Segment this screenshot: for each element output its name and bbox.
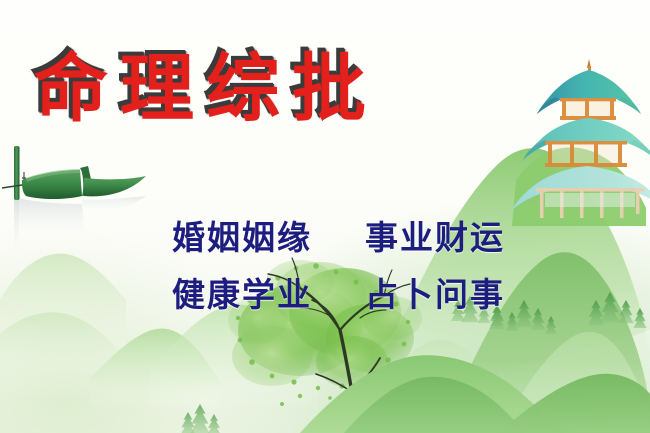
subtitle-marriage: 婚姻姻缘 xyxy=(172,218,312,257)
mast-reflection xyxy=(14,198,19,258)
boat xyxy=(2,146,146,258)
subtitle-career: 事业财运 xyxy=(365,218,505,257)
subtitle-divination: 占卜问事 xyxy=(365,275,505,314)
subtitle-line-2: 健康学业 占卜问事 xyxy=(172,268,505,316)
page-title: 命理综批 xyxy=(34,52,378,126)
poster-canvas: 命理综批 婚姻姻缘 事业财运 健康学业 占卜问事 xyxy=(0,0,650,433)
subtitle-line-1: 婚姻姻缘 事业财运 xyxy=(172,211,505,259)
boat-bow xyxy=(84,176,146,196)
boat-reflection xyxy=(18,198,84,240)
subtitle-health: 健康学业 xyxy=(172,275,312,314)
boat-reflection-bow xyxy=(82,196,146,212)
boat-mast xyxy=(14,146,20,200)
